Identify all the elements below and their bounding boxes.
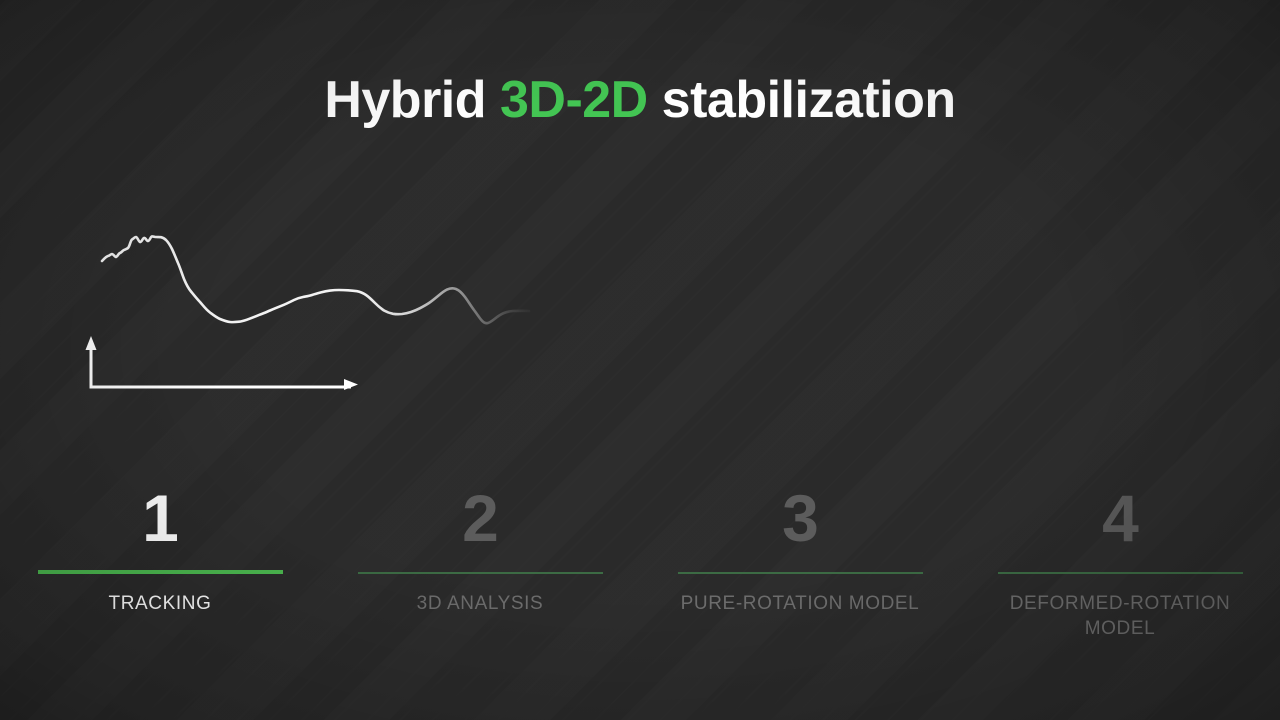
step-number-2: 2 <box>462 478 498 558</box>
page-title: Hybrid 3D-2D stabilization <box>0 72 1280 129</box>
graph-axes <box>86 336 359 390</box>
step-label-4: DEFORMED-ROTATION MODEL <box>995 591 1245 641</box>
axis-lines <box>91 343 351 387</box>
slide-root: Hybrid 3D-2D stabilization <box>0 0 1280 720</box>
motion-graph <box>60 210 530 410</box>
step-rule-3 <box>678 572 923 574</box>
title-segment-3: stabilization <box>648 71 956 129</box>
title-segment-accent: 3D-2D <box>500 71 648 129</box>
step-item-4[interactable]: 4 DEFORMED-ROTATION MODEL <box>960 478 1280 641</box>
step-number-3: 3 <box>782 478 818 558</box>
step-item-3[interactable]: 3 PURE-ROTATION MODEL <box>640 478 960 641</box>
step-number-1: 1 <box>142 478 178 558</box>
y-axis-arrow-icon <box>86 336 97 350</box>
step-rule-4 <box>998 572 1243 574</box>
step-number-4: 4 <box>1102 478 1138 558</box>
step-rule-2 <box>358 572 603 574</box>
step-label-3: PURE-ROTATION MODEL <box>681 591 920 616</box>
step-item-2[interactable]: 2 3D ANALYSIS <box>320 478 640 641</box>
title-segment-1: Hybrid <box>324 71 500 129</box>
step-label-1: TRACKING <box>109 591 212 616</box>
step-label-2: 3D ANALYSIS <box>417 591 544 616</box>
step-indicator-list: 1 TRACKING 2 3D ANALYSIS 3 PURE-ROTATION… <box>0 478 1280 641</box>
trajectory-curve <box>102 236 529 323</box>
step-rule-1 <box>38 570 283 574</box>
step-item-1[interactable]: 1 TRACKING <box>0 478 320 641</box>
